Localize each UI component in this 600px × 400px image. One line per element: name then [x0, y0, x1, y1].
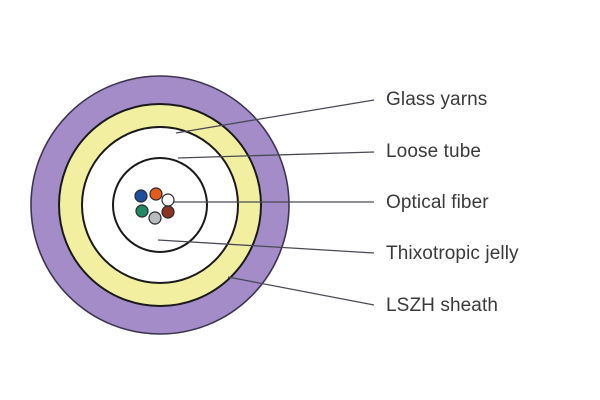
optical-fiber-green	[136, 205, 148, 217]
label-thixotropic-jelly: Thixotropic jelly	[386, 244, 519, 263]
optical-fiber-white	[162, 194, 174, 206]
label-loose-tube: Loose tube	[386, 142, 481, 161]
layer-loose-tube	[113, 158, 207, 252]
fiber-cable-diagram: Glass yarns Loose tube Optical fiber Thi…	[0, 0, 600, 400]
optical-fiber-blue	[135, 190, 147, 202]
cable-cross-section-graphic	[0, 0, 600, 400]
label-glass-yarns: Glass yarns	[386, 90, 487, 109]
label-optical-fiber: Optical fiber	[386, 193, 489, 212]
label-lszh-sheath: LSZH sheath	[386, 296, 498, 315]
optical-fiber-grey	[149, 212, 161, 224]
optical-fiber-orange	[150, 188, 162, 200]
optical-fiber-brown	[162, 206, 174, 218]
